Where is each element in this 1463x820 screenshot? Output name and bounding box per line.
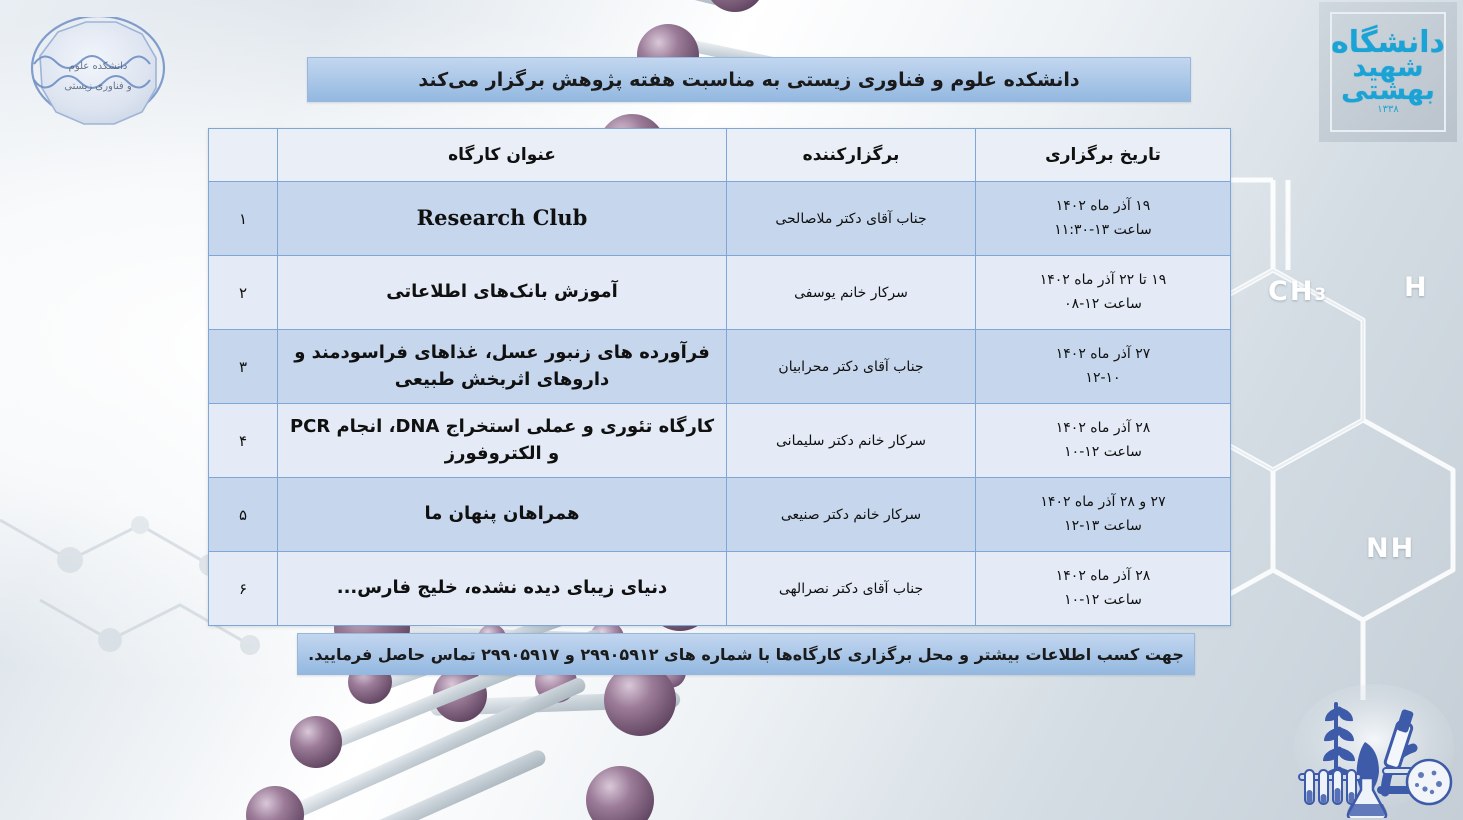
cell-date: ۲۷ آذر ماه ۱۴۰۲ ۱۲-۱۰ bbox=[976, 330, 1231, 404]
cell-title: Research Club bbox=[278, 182, 727, 256]
column-header-number bbox=[209, 129, 278, 182]
table-row: ۲۸ آذر ماه ۱۴۰۲ ساعت ۱۲-۱۰ سرکار خانم دک… bbox=[209, 404, 1231, 478]
cell-organizer: سرکار خانم دکتر سلیمانی bbox=[727, 404, 976, 478]
cell-number: ۵ bbox=[209, 478, 278, 552]
cell-number: ۲ bbox=[209, 256, 278, 330]
cell-organizer: جناب آقای دکتر محرابیان bbox=[727, 330, 976, 404]
column-header-date: تاریخ برگزاری bbox=[976, 129, 1231, 182]
cell-title: آموزش بانک‌های اطلاعاتی bbox=[278, 256, 727, 330]
date-line-1: ۲۷ و ۲۸ آذر ماه ۱۴۰۲ bbox=[982, 491, 1224, 515]
column-header-title: عنوان کارگاه bbox=[278, 129, 727, 182]
poster-canvas: CH3 H NH bbox=[0, 0, 1463, 820]
cell-organizer: سرکار خانم یوسفی bbox=[727, 256, 976, 330]
cell-title: دنیای زیبای دیده نشده، خلیج فارس... bbox=[278, 552, 727, 626]
chem-label-ch3: CH3 bbox=[1268, 276, 1328, 307]
cell-number: ۳ bbox=[209, 330, 278, 404]
table-row: ۲۷ آذر ماه ۱۴۰۲ ۱۲-۱۰ جناب آقای دکتر محر… bbox=[209, 330, 1231, 404]
date-line-1: ۱۹ تا ۲۲ آذر ماه ۱۴۰۲ bbox=[982, 269, 1224, 293]
date-line-1: ۲۷ آذر ماه ۱۴۰۲ bbox=[982, 343, 1224, 367]
cell-title: کارگاه تئوری و عملی استخراج DNA، انجام P… bbox=[278, 404, 727, 478]
faculty-seal-logo: دانشکده علوم و فناوری زیستی bbox=[22, 17, 174, 135]
table-row: ۲۸ آذر ماه ۱۴۰۲ ساعت ۱۲-۱۰ جناب آقای دکت… bbox=[209, 552, 1231, 626]
footer-banner-text: جهت کسب اطلاعات بیشتر و محل برگزاری کارگ… bbox=[308, 645, 1184, 664]
date-line-2: ساعت ۱۳-۱۱:۳۰ bbox=[982, 219, 1224, 243]
date-line-2: ساعت ۱۲-۱۰ bbox=[982, 589, 1224, 613]
cell-date: ۲۸ آذر ماه ۱۴۰۲ ساعت ۱۲-۱۰ bbox=[976, 552, 1231, 626]
date-line-2: ۱۲-۱۰ bbox=[982, 367, 1224, 391]
cell-organizer: جناب آقای دکتر ملاصالحی bbox=[727, 182, 976, 256]
table-row: ۱۹ آذر ماه ۱۴۰۲ ساعت ۱۳-۱۱:۳۰ جناب آقای … bbox=[209, 182, 1231, 256]
workshops-table: تاریخ برگزاری برگزارکننده عنوان کارگاه ۱… bbox=[208, 128, 1231, 626]
cell-title: فرآورده های زنبور عسل، غذاهای فراسودمند … bbox=[278, 330, 727, 404]
university-logo: دانشگاه شهید بهشتی ۱۳۳۸ bbox=[1319, 2, 1457, 142]
date-line-2: ساعت ۱۲-۰۸ bbox=[982, 293, 1224, 317]
faculty-seal-text: دانشکده علوم و فناوری زیستی bbox=[22, 17, 174, 135]
date-line-2: ساعت ۱۳-۱۲ bbox=[982, 515, 1224, 539]
faculty-seal-line-1: دانشکده علوم bbox=[69, 60, 128, 73]
date-line-1: ۲۸ آذر ماه ۱۴۰۲ bbox=[982, 417, 1224, 441]
cell-date: ۱۹ آذر ماه ۱۴۰۲ ساعت ۱۳-۱۱:۳۰ bbox=[976, 182, 1231, 256]
date-line-1: ۲۸ آذر ماه ۱۴۰۲ bbox=[982, 565, 1224, 589]
cell-organizer: سرکار خانم دکتر صنیعی bbox=[727, 478, 976, 552]
column-header-organizer: برگزارکننده bbox=[727, 129, 976, 182]
table-header: تاریخ برگزاری برگزارکننده عنوان کارگاه bbox=[209, 129, 1231, 182]
cell-number: ۱ bbox=[209, 182, 278, 256]
cell-date: ۲۸ آذر ماه ۱۴۰۲ ساعت ۱۲-۱۰ bbox=[976, 404, 1231, 478]
biolab-logo-art bbox=[1289, 682, 1459, 818]
university-logo-frame: دانشگاه شهید بهشتی ۱۳۳۸ bbox=[1330, 12, 1446, 132]
petri-dish-icon bbox=[1407, 760, 1451, 804]
cell-number: ۶ bbox=[209, 552, 278, 626]
faculty-seal-line-2: و فناوری زیستی bbox=[64, 80, 131, 93]
date-line-2: ساعت ۱۲-۱۰ bbox=[982, 441, 1224, 465]
chem-label-nh: NH bbox=[1366, 533, 1415, 564]
table-row: ۱۹ تا ۲۲ آذر ماه ۱۴۰۲ ساعت ۱۲-۰۸ سرکار خ… bbox=[209, 256, 1231, 330]
table-row: ۲۷ و ۲۸ آذر ماه ۱۴۰۲ ساعت ۱۳-۱۲ سرکار خا… bbox=[209, 478, 1231, 552]
cell-date: ۲۷ و ۲۸ آذر ماه ۱۴۰۲ ساعت ۱۳-۱۲ bbox=[976, 478, 1231, 552]
cell-organizer: جناب آقای دکتر نصرالهی bbox=[727, 552, 976, 626]
cell-number: ۴ bbox=[209, 404, 278, 478]
table-header-row: تاریخ برگزاری برگزارکننده عنوان کارگاه bbox=[209, 129, 1231, 182]
footer-banner: جهت کسب اطلاعات بیشتر و محل برگزاری کارگ… bbox=[297, 633, 1195, 675]
cell-date: ۱۹ تا ۲۲ آذر ماه ۱۴۰۲ ساعت ۱۲-۰۸ bbox=[976, 256, 1231, 330]
header-banner: دانشکده علوم و فناوری زیستی به مناسبت هف… bbox=[307, 57, 1191, 102]
university-logo-year: ۱۳۳۸ bbox=[1377, 104, 1398, 115]
header-banner-text: دانشکده علوم و فناوری زیستی به مناسبت هف… bbox=[418, 69, 1079, 91]
biolab-logo bbox=[1289, 682, 1459, 818]
university-logo-line-3: بهشتی bbox=[1341, 78, 1435, 104]
table-body: ۱۹ آذر ماه ۱۴۰۲ ساعت ۱۳-۱۱:۳۰ جناب آقای … bbox=[209, 182, 1231, 626]
cell-title: همراهان پنهان ما bbox=[278, 478, 727, 552]
date-line-1: ۱۹ آذر ماه ۱۴۰۲ bbox=[982, 195, 1224, 219]
chem-label-h: H bbox=[1404, 272, 1429, 303]
